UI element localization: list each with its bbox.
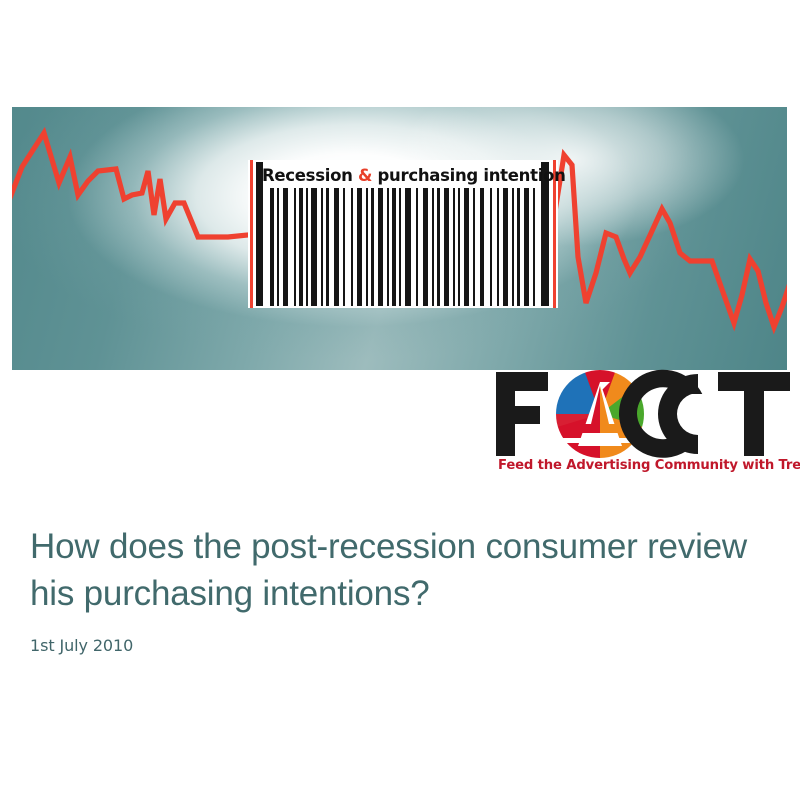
- hero-banner: Recession & purchasing intention: [12, 107, 787, 370]
- slide-date: 1st July 2010: [30, 636, 770, 655]
- barcode-label: Recession & purchasing intention: [262, 164, 544, 188]
- page-title: How does the post-recession consumer rev…: [30, 523, 770, 617]
- barcode-label-ampersand: &: [358, 166, 372, 185]
- fact-logo: Feed the Advertising Community with Tren…: [492, 368, 792, 480]
- barcode-graphic: Recession & purchasing intention: [248, 160, 558, 308]
- fact-wordmark-icon: [492, 368, 792, 460]
- slide-canvas: Recession & purchasing intention: [0, 0, 800, 800]
- barcode-label-suffix: purchasing intention: [372, 166, 565, 185]
- logo-letter-c: [619, 370, 710, 458]
- logo-letter-f: [496, 372, 548, 456]
- title-block: How does the post-recession consumer rev…: [30, 523, 770, 655]
- barcode-label-prefix: Recession: [262, 166, 358, 185]
- logo-letter-t: [718, 372, 790, 456]
- logo-tagline: Feed the Advertising Community with Tren…: [498, 458, 792, 473]
